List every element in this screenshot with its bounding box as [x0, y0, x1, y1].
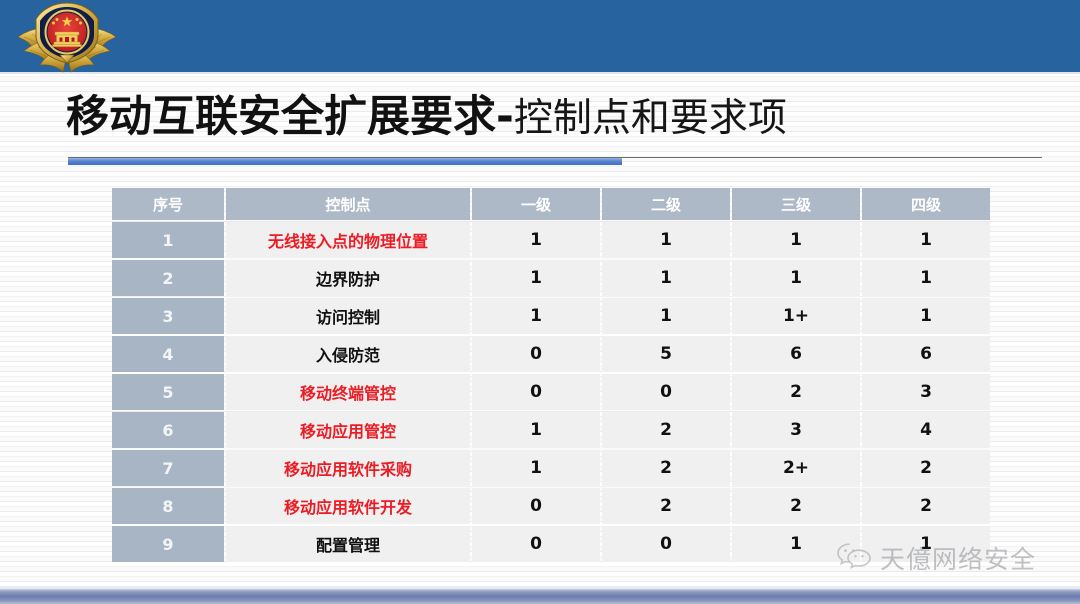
- cell-level-1: 0: [472, 526, 600, 562]
- cell-index: 7: [112, 450, 224, 486]
- cell-level-2: 5: [602, 336, 730, 372]
- cell-level-3: 1: [732, 260, 860, 296]
- cell-level-4: 1: [862, 222, 990, 258]
- cell-level-3: 1+: [732, 298, 860, 334]
- cell-level-3: 2+: [732, 450, 860, 486]
- china-police-badge-emblem: [8, 1, 126, 73]
- table-row: 7移动应用软件采购122+2: [112, 450, 990, 486]
- cell-index: 5: [112, 374, 224, 410]
- banner-underline: [0, 72, 1080, 74]
- cell-level-1: 0: [472, 336, 600, 372]
- table-row: 8移动应用软件开发0222: [112, 488, 990, 524]
- watermark-text: 天億网络安全: [880, 540, 1036, 576]
- cell-level-3: 1: [732, 222, 860, 258]
- column-header-level-4: 四级: [862, 188, 990, 220]
- table-row: 6移动应用管控1234: [112, 412, 990, 448]
- column-header-level-3: 三级: [732, 188, 860, 220]
- cell-level-2: 1: [602, 260, 730, 296]
- cell-level-2: 2: [602, 412, 730, 448]
- watermark: 天億网络安全: [836, 538, 1070, 578]
- cell-level-4: 2: [862, 450, 990, 486]
- cell-level-4: 1: [862, 298, 990, 334]
- cell-level-3: 2: [732, 374, 860, 410]
- cell-control-point: 访问控制: [226, 298, 470, 334]
- cell-level-2: 0: [602, 526, 730, 562]
- cell-index: 2: [112, 260, 224, 296]
- cell-control-point: 配置管理: [226, 526, 470, 562]
- table-header-row: 序号 控制点 一级 二级 三级 四级: [112, 188, 990, 220]
- cell-index: 4: [112, 336, 224, 372]
- cell-level-2: 2: [602, 450, 730, 486]
- cell-control-point: 边界防护: [226, 260, 470, 296]
- cell-level-1: 1: [472, 298, 600, 334]
- page-title-main: 移动互联安全扩展要求: [66, 92, 496, 142]
- cell-level-3: 6: [732, 336, 860, 372]
- cell-index: 1: [112, 222, 224, 258]
- cell-level-2: 0: [602, 374, 730, 410]
- cell-control-point: 移动应用软件采购: [226, 450, 470, 486]
- cell-level-4: 1: [862, 260, 990, 296]
- page-title-sub: 控制点和要求项: [514, 96, 787, 141]
- cell-level-1: 1: [472, 450, 600, 486]
- wechat-icon: [836, 541, 872, 575]
- page-title: 移动互联安全扩展要求-控制点和要求项: [66, 88, 1046, 150]
- column-header-control-point: 控制点: [226, 188, 470, 220]
- cell-index: 3: [112, 298, 224, 334]
- cell-index: 9: [112, 526, 224, 562]
- title-divider-accent: [68, 158, 622, 165]
- cell-level-4: 2: [862, 488, 990, 524]
- table-row: 2边界防护1111: [112, 260, 990, 296]
- cell-level-2: 2: [602, 488, 730, 524]
- cell-level-1: 0: [472, 488, 600, 524]
- table-row: 5移动终端管控0023: [112, 374, 990, 410]
- cell-index: 6: [112, 412, 224, 448]
- column-header-level-2: 二级: [602, 188, 730, 220]
- cell-control-point: 移动应用软件开发: [226, 488, 470, 524]
- cell-level-2: 1: [602, 298, 730, 334]
- cell-control-point: 移动应用管控: [226, 412, 470, 448]
- cell-level-1: 1: [472, 260, 600, 296]
- cell-level-4: 4: [862, 412, 990, 448]
- table-row: 4入侵防范0566: [112, 336, 990, 372]
- cell-level-4: 6: [862, 336, 990, 372]
- cell-level-4: 3: [862, 374, 990, 410]
- cell-control-point: 入侵防范: [226, 336, 470, 372]
- cell-level-1: 0: [472, 374, 600, 410]
- table-body: 1无线接入点的物理位置11112边界防护11113访问控制111+14入侵防范0…: [112, 222, 990, 562]
- column-header-index: 序号: [112, 188, 224, 220]
- cell-level-1: 1: [472, 412, 600, 448]
- cell-level-1: 1: [472, 222, 600, 258]
- table-row: 1无线接入点的物理位置1111: [112, 222, 990, 258]
- requirements-table: 序号 控制点 一级 二级 三级 四级 1无线接入点的物理位置11112边界防护1…: [110, 186, 992, 564]
- page-title-separator: -: [496, 92, 514, 142]
- cell-control-point: 无线接入点的物理位置: [226, 222, 470, 258]
- cell-index: 8: [112, 488, 224, 524]
- slide-canvas: 移动互联安全扩展要求-控制点和要求项 序号 控制点 一级 二级 三级 四级 1无…: [0, 0, 1080, 604]
- table-header: 序号 控制点 一级 二级 三级 四级: [112, 188, 990, 220]
- top-banner: [0, 0, 1080, 72]
- cell-level-2: 1: [602, 222, 730, 258]
- bottom-bar: [0, 589, 1080, 604]
- cell-level-3: 3: [732, 412, 860, 448]
- table-row: 3访问控制111+1: [112, 298, 990, 334]
- column-header-level-1: 一级: [472, 188, 600, 220]
- cell-level-3: 2: [732, 488, 860, 524]
- cell-control-point: 移动终端管控: [226, 374, 470, 410]
- requirements-table-container: 序号 控制点 一级 二级 三级 四级 1无线接入点的物理位置11112边界防护1…: [110, 186, 990, 564]
